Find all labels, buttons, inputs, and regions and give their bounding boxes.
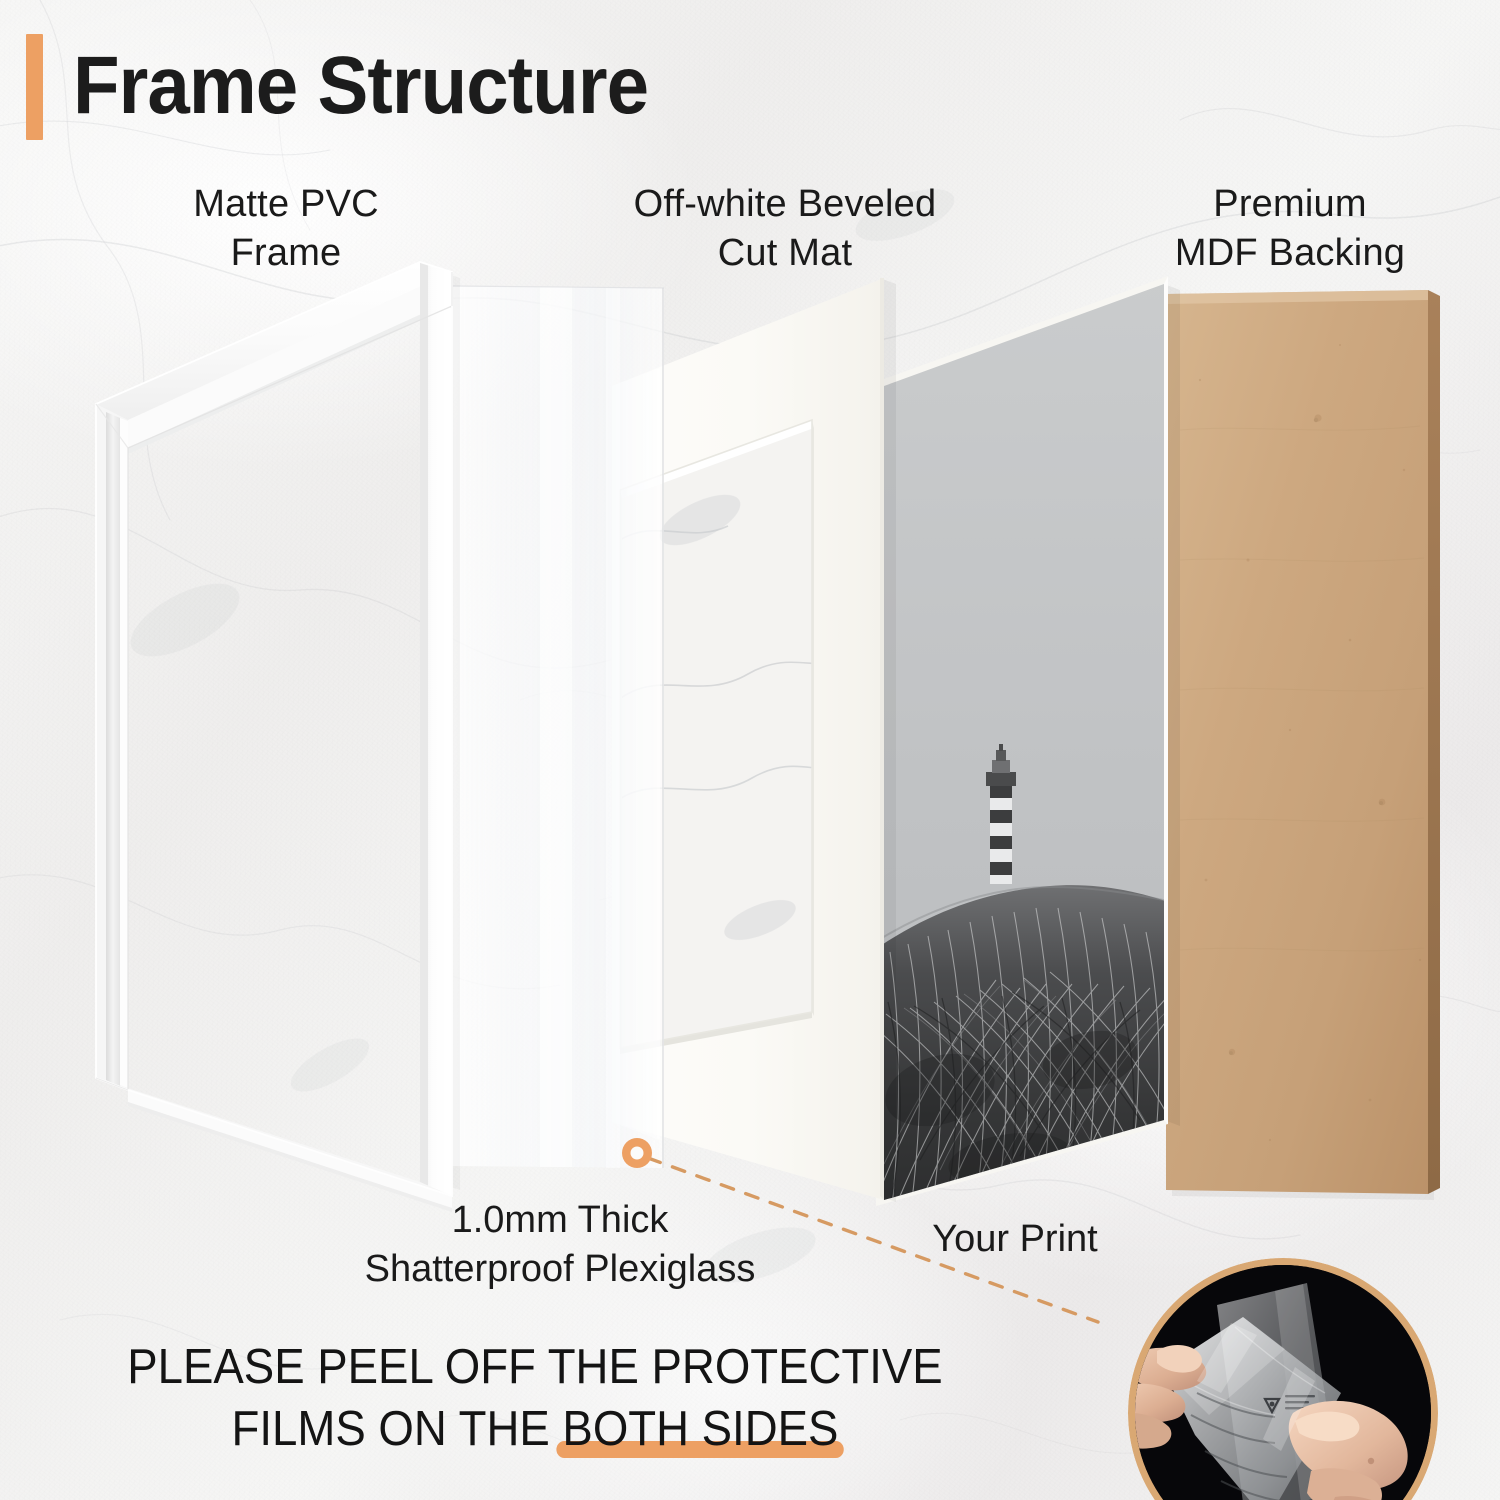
warning-line-1: PLEASE PEEL OFF THE PROTECTIVE [37,1336,1032,1398]
label-your-print: Your Print [880,1215,1150,1264]
layer-mdf-backing [1166,290,1440,1200]
warning-highlight-text: BOTH SIDES [562,1402,838,1456]
page-title: Frame Structure [73,34,648,140]
layer-plexiglass [452,286,664,1168]
warning-highlight: BOTH SIDES [562,1398,838,1460]
label-line-2: Frame [100,229,472,278]
label-line-2: MDF Backing [1090,229,1490,278]
title-accent-bar [26,34,43,140]
label-off-white-beveled-cut-mat: Off-white Beveled Cut Mat [580,180,990,278]
peel-film-warning: PLEASE PEEL OFF THE PROTECTIVE FILMS ON … [37,1336,1032,1460]
infographic-canvas: Frame Structure Matte PVC Frame Off-whit… [0,0,1500,1500]
title-row: Frame Structure [26,34,691,140]
warning-line-2-prefix: FILMS ON THE [232,1402,563,1456]
label-line-1: Your Print [880,1215,1150,1264]
label-line-1: Matte PVC [100,180,472,229]
label-matte-pvc-frame: Matte PVC Frame [100,180,472,278]
layer-pvc-frame [96,262,460,1212]
callout-marker-icon [622,1138,652,1168]
label-line-2: Shatterproof Plexiglass [260,1245,860,1294]
warning-line-2: FILMS ON THE BOTH SIDES [37,1398,1032,1460]
label-shatterproof-plexiglass: 1.0mm Thick Shatterproof Plexiglass [260,1196,860,1294]
label-premium-mdf-backing: Premium MDF Backing [1090,180,1490,278]
layer-your-print [860,260,1190,1240]
label-line-1: Premium [1090,180,1490,229]
label-line-1: 1.0mm Thick [260,1196,860,1245]
label-line-2: Cut Mat [580,229,990,278]
print-photo [860,260,1190,1240]
label-line-1: Off-white Beveled [580,180,990,229]
